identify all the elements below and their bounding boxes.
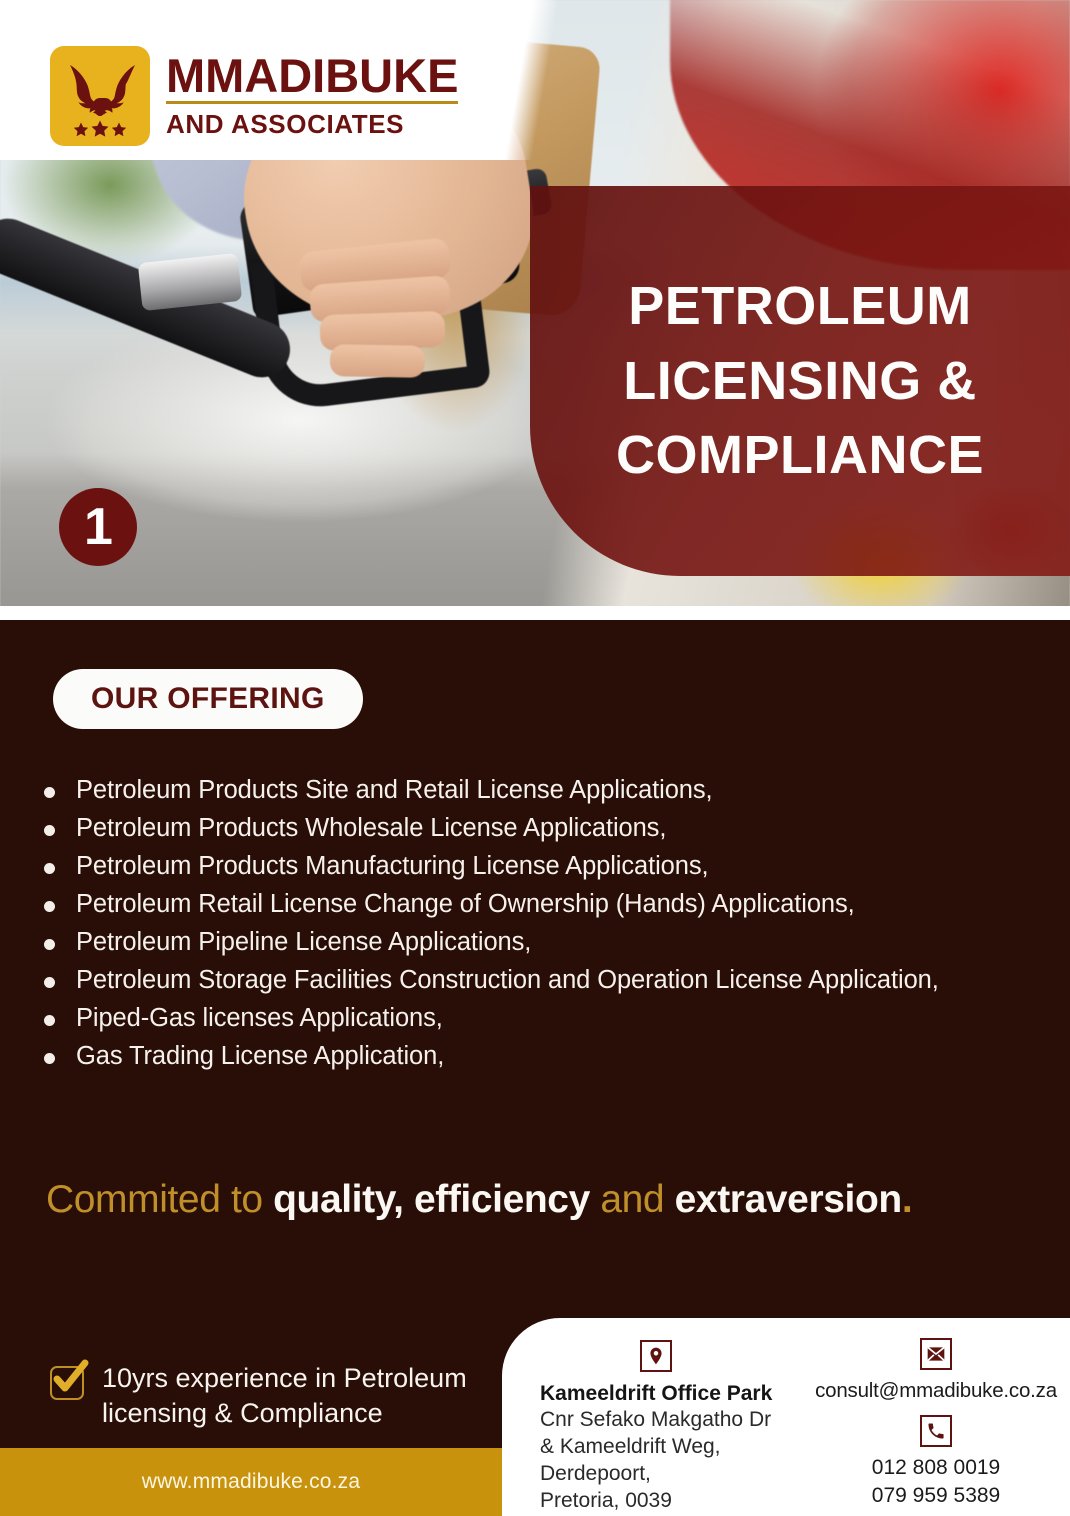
website-url[interactable]: www.mmadibuke.co.za — [142, 1470, 361, 1494]
brand-wordmark: MMADIBUKE AND ASSOCIATES — [166, 52, 458, 141]
phone-numbers[interactable]: 012 808 0019 079 959 5389 — [872, 1454, 1000, 1511]
list-item: Petroleum Products Manufacturing License… — [40, 854, 1050, 880]
brand-name: MMADIBUKE — [166, 52, 458, 105]
eagle-with-three-stars-icon — [50, 46, 150, 146]
list-item: Piped-Gas licenses Applications, — [40, 1006, 1050, 1032]
flyer-page: 1 MMADIBUKE AND ASSOCIATES — [0, 0, 1070, 1516]
brand-subtitle: AND ASSOCIATES — [166, 109, 458, 140]
website-bar[interactable]: www.mmadibuke.co.za — [0, 1448, 502, 1516]
list-item: Petroleum Retail License Change of Owner… — [40, 892, 1050, 918]
phone-icon — [920, 1415, 952, 1447]
address-line: Derdepoort, — [540, 1461, 651, 1488]
tagline-part-4: extraversion — [675, 1178, 902, 1221]
list-item: Petroleum Products Wholesale License App… — [40, 816, 1050, 842]
step-number-badge: 1 — [59, 488, 137, 566]
experience-text: 10yrs experience in Petroleum licensing … — [102, 1361, 467, 1430]
list-item: Petroleum Pipeline License Applications, — [40, 930, 1050, 956]
address-title: Kameeldrift Office Park — [540, 1381, 772, 1407]
experience-line-1: 10yrs experience in Petroleum — [102, 1361, 467, 1396]
list-item: Petroleum Storage Facilities Constructio… — [40, 968, 1050, 994]
hero-title-line-1: PETROLEUM — [628, 269, 972, 344]
contact-card: Kameeldrift Office Park Cnr Sefako Makga… — [502, 1318, 1070, 1516]
map-pin-icon — [640, 1340, 672, 1372]
contact-column: consult@mmadibuke.co.za 012 808 0019 079… — [802, 1318, 1070, 1516]
address-icon-row — [540, 1340, 802, 1372]
envelope-icon — [920, 1338, 952, 1370]
hero-section: 1 MMADIBUKE AND ASSOCIATES — [0, 0, 1070, 612]
address-line: Pretoria, 0039 — [540, 1488, 672, 1515]
phone-icon-row — [920, 1415, 952, 1447]
offerings-list: Petroleum Products Site and Retail Licen… — [40, 778, 1050, 1082]
hero-title-line-3: COMPLIANCE — [616, 418, 984, 493]
company-tagline: Commited to quality, efficiency and extr… — [46, 1178, 912, 1222]
section-divider — [0, 606, 1070, 620]
brand-logo: MMADIBUKE AND ASSOCIATES — [50, 46, 458, 146]
address-line: & Kameeldrift Weg, — [540, 1434, 721, 1461]
list-item: Gas Trading License Application, — [40, 1044, 1050, 1070]
tagline-part-2: quality, efficiency — [273, 1178, 590, 1221]
hero-title-banner: PETROLEUM LICENSING & COMPLIANCE — [530, 186, 1070, 576]
hero-title-line-2: LICENSING & — [623, 344, 977, 419]
phone-number[interactable]: 079 959 5389 — [872, 1482, 1000, 1510]
experience-line-2: licensing & Compliance — [102, 1396, 467, 1431]
experience-highlight: 10yrs experience in Petroleum licensing … — [50, 1361, 467, 1430]
email-address[interactable]: consult@mmadibuke.co.za — [815, 1379, 1057, 1403]
address-line: Cnr Sefako Makgatho Dr — [540, 1407, 771, 1434]
tagline-part-3: and — [590, 1178, 675, 1221]
check-box-icon — [50, 1366, 84, 1400]
finger — [330, 344, 426, 378]
phone-number[interactable]: 012 808 0019 — [872, 1454, 1000, 1482]
list-item: Petroleum Products Site and Retail Licen… — [40, 778, 1050, 804]
section-heading-pill: OUR OFFERING — [53, 669, 363, 729]
tagline-part-5: . — [902, 1178, 912, 1221]
address-column: Kameeldrift Office Park Cnr Sefako Makga… — [502, 1318, 802, 1516]
tagline-part-1: Commited to — [46, 1178, 273, 1221]
